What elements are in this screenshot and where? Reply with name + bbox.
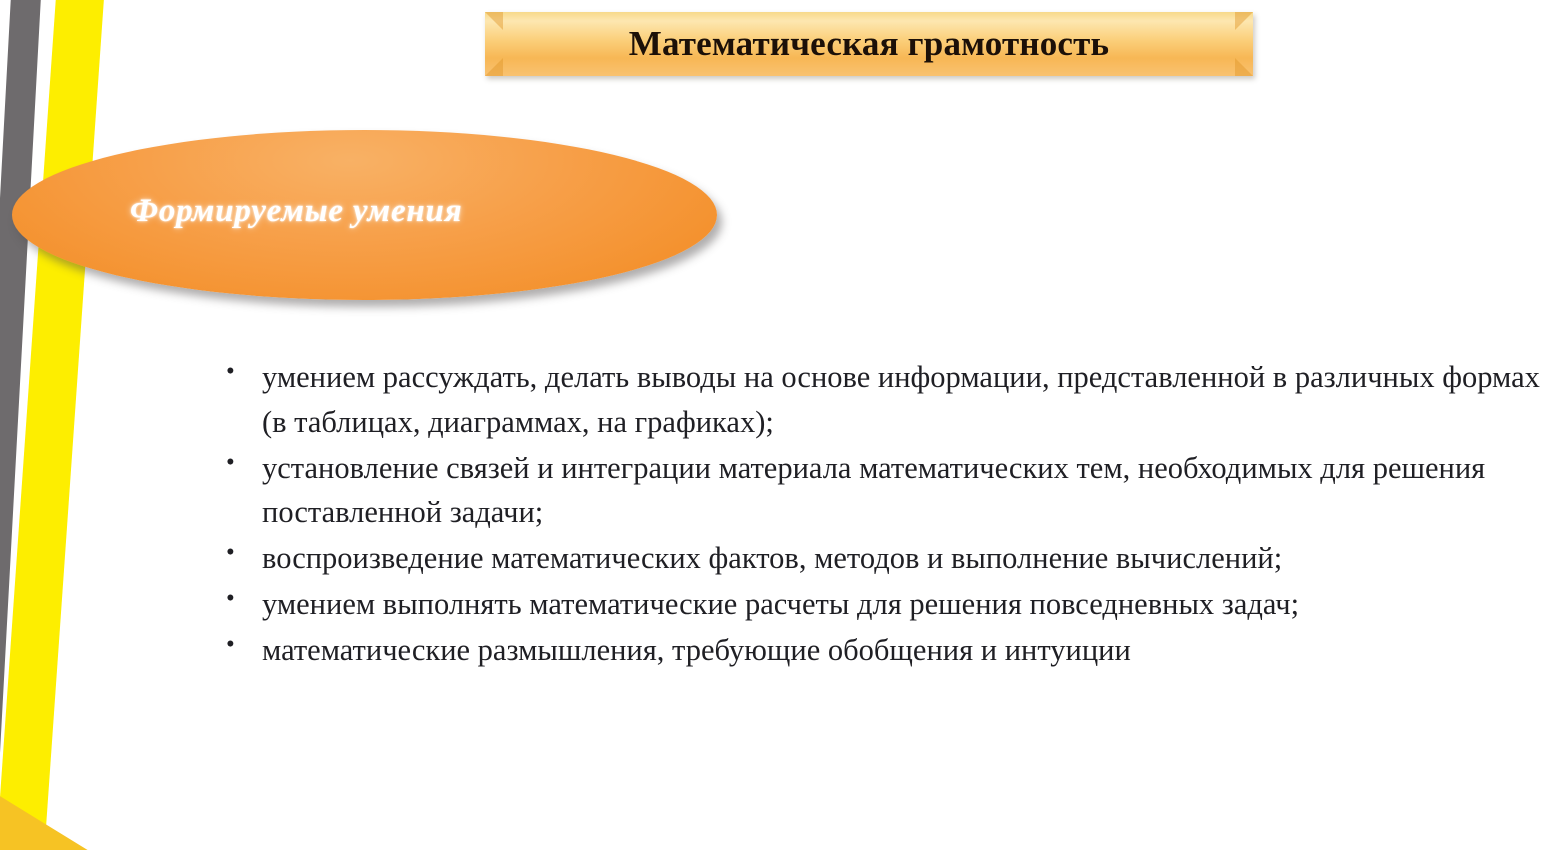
- page-title: Математическая грамотность: [485, 12, 1253, 76]
- list-item: математические размышления, требующие об…: [222, 628, 1542, 673]
- section-label: Формируемые умения: [130, 193, 610, 230]
- title-banner: Математическая грамотность: [485, 12, 1253, 76]
- decorative-yellow-corner: [0, 730, 114, 850]
- skills-list: умением рассуждать, делать выводы на осн…: [222, 355, 1542, 674]
- list-item: умением выполнять математические расчеты…: [222, 582, 1542, 627]
- decorative-gray-stripe: [0, 0, 44, 850]
- list-item: установление связей и интеграции материа…: [222, 446, 1542, 536]
- decorative-yellow-stripe: [0, 0, 108, 850]
- list-item: умением рассуждать, делать выводы на осн…: [222, 355, 1542, 445]
- presentation-slide: Математическая грамотность Формируемые у…: [0, 0, 1557, 850]
- list-item: воспроизведение математических фактов, м…: [222, 536, 1542, 581]
